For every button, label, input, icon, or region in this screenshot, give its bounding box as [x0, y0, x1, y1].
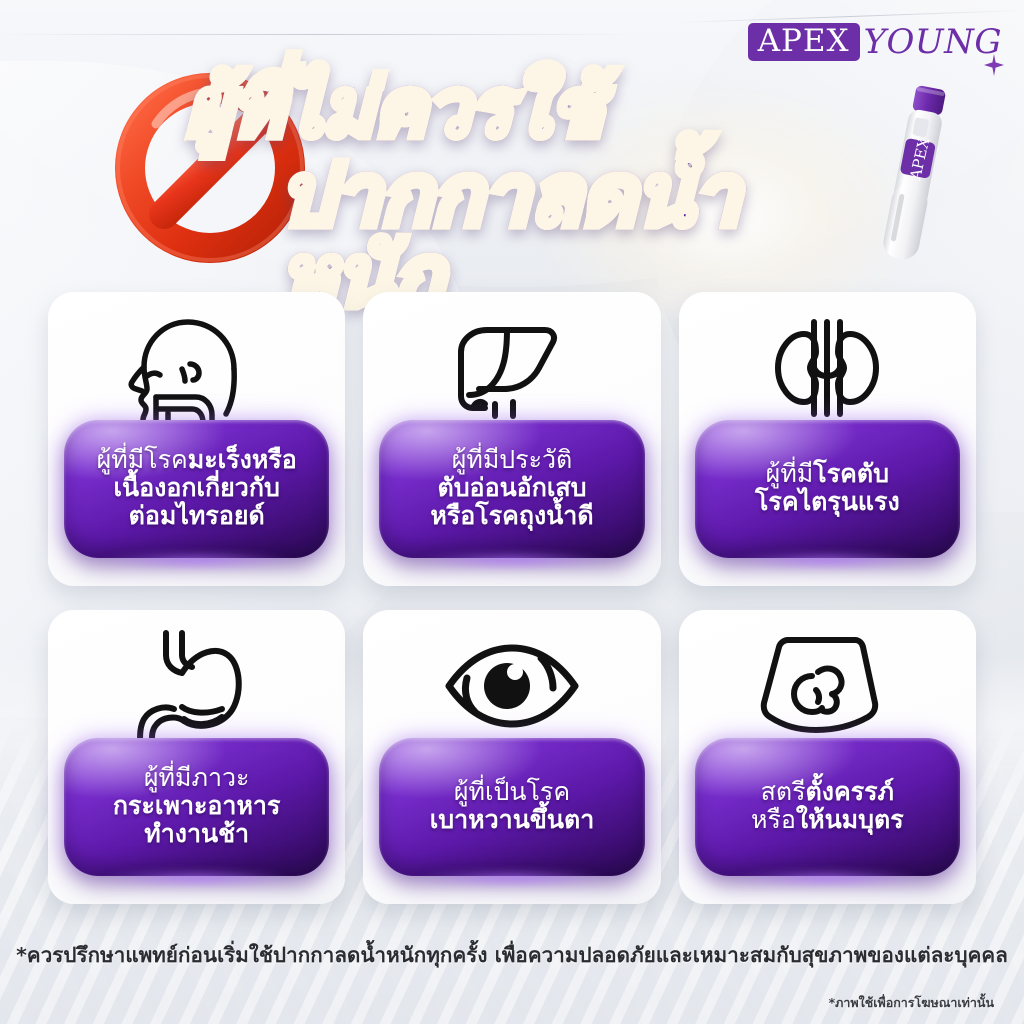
stomach-icon — [48, 626, 345, 746]
condition-line: เบาหวานขึ้นตา — [389, 806, 634, 834]
condition-card[interactable]: ผู้ที่มีภาวะ กระเพาะอาหาร ทำงานช้า — [48, 610, 345, 904]
poster-canvas: APEX YOUNG ผู้ที่ไม่ควรใช้ ปาก — [0, 0, 1024, 1024]
condition-line: สตรีตั้งครรภ์ — [705, 778, 950, 806]
condition-line: ตับอ่อนอักเสบ — [389, 474, 634, 502]
condition-line: ผู้ที่มีภาวะ — [74, 764, 319, 792]
conditions-grid: ผู้ที่มีโรคมะเร็งหรือ เนื้องอกเกี่ยวกับ … — [48, 292, 976, 904]
logo-apex-text: APEX — [748, 23, 860, 62]
condition-pill: ผู้ที่มีภาวะ กระเพาะอาหาร ทำงานช้า — [64, 738, 329, 876]
footer-disclaimer: *ควรปรึกษาแพทย์ก่อนเริ่มใช้ปากกาลดน้ำหนั… — [16, 939, 1008, 972]
headline: ผู้ที่ไม่ควรใช้ ปากกาลดน้ำหนัก — [130, 72, 890, 316]
condition-card[interactable]: ผู้ที่มีประวัติ ตับอ่อนอักเสบ หรือโรคถุง… — [363, 292, 660, 586]
kidneys-icon — [679, 308, 976, 428]
sparkle-icon — [984, 54, 1004, 76]
condition-pill: ผู้ที่มีโรคตับ โรคไตรุนแรง — [695, 420, 960, 558]
condition-line: ผู้ที่มีโรคมะเร็งหรือ — [74, 446, 319, 474]
condition-pill: ผู้ที่มีประวัติ ตับอ่อนอักเสบ หรือโรคถุง… — [379, 420, 644, 558]
condition-line: กระเพาะอาหาร — [74, 792, 319, 820]
condition-card[interactable]: ผู้ที่มีโรคตับ โรคไตรุนแรง — [679, 292, 976, 586]
condition-pill: ผู้ที่มีโรคมะเร็งหรือ เนื้องอกเกี่ยวกับ … — [64, 420, 329, 558]
condition-card[interactable]: ผู้ที่มีโรคมะเร็งหรือ เนื้องอกเกี่ยวกับ … — [48, 292, 345, 586]
condition-line: โรคไตรุนแรง — [705, 488, 950, 516]
condition-line: หรือโรคถุงน้ำดี — [389, 502, 634, 530]
footer-band: *ควรปรึกษาแพทย์ก่อนเริ่มใช้ปากกาลดน้ำหนั… — [0, 920, 1024, 990]
background-hairline — [0, 34, 635, 35]
logo-young-text: YOUNG — [864, 25, 1002, 59]
footer-ad-note: *ภาพใช้เพื่อการโฆษณาเท่านั้น — [829, 993, 994, 1013]
brand-logo: APEX YOUNG — [748, 20, 1002, 64]
condition-card[interactable]: ผู้ที่เป็นโรค เบาหวานขึ้นตา — [363, 610, 660, 904]
eye-icon — [363, 626, 660, 746]
condition-line: ผู้ที่มีโรคตับ — [705, 460, 950, 488]
ultrasound-fetus-icon — [679, 626, 976, 746]
liver-icon — [363, 308, 660, 428]
condition-line: เนื้องอกเกี่ยวกับ — [74, 474, 319, 502]
condition-line: ผู้ที่เป็นโรค — [389, 778, 634, 806]
condition-line: ผู้ที่มีประวัติ — [389, 446, 634, 474]
condition-pill: ผู้ที่เป็นโรค เบาหวานขึ้นตา — [379, 738, 644, 876]
condition-pill: สตรีตั้งครรภ์ หรือให้นมบุตร — [695, 738, 960, 876]
condition-line: หรือให้นมบุตร — [705, 806, 950, 834]
condition-line: ทำงานช้า — [74, 820, 319, 848]
condition-line: ต่อมไทรอยด์ — [74, 502, 319, 530]
condition-card[interactable]: สตรีตั้งครรภ์ หรือให้นมบุตร — [679, 610, 976, 904]
head-thyroid-icon — [48, 308, 345, 428]
headline-line-1: ผู้ที่ไม่ควรใช้ — [186, 72, 890, 147]
